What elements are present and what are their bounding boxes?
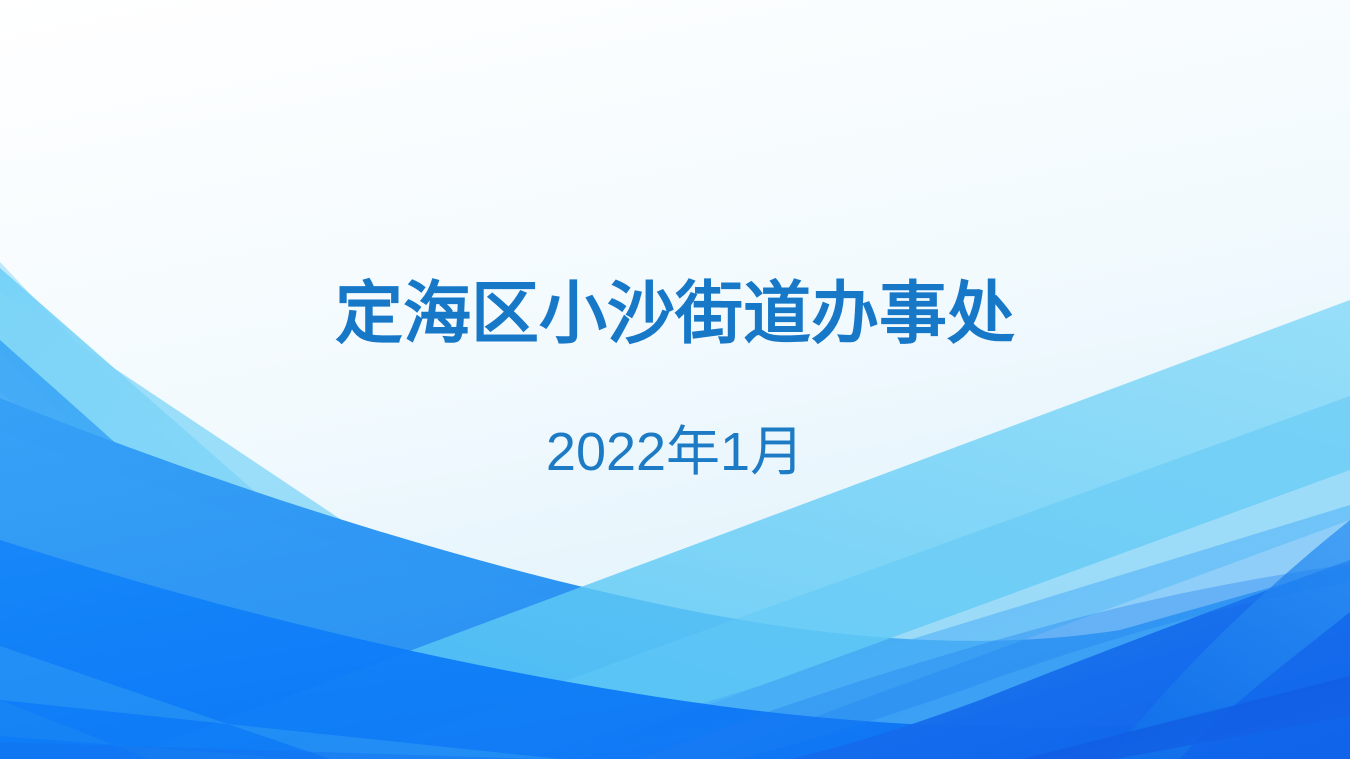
background-wave-artwork	[0, 0, 1350, 759]
presentation-title-slide: 定海区小沙街道办事处 2022年1月	[0, 0, 1350, 759]
